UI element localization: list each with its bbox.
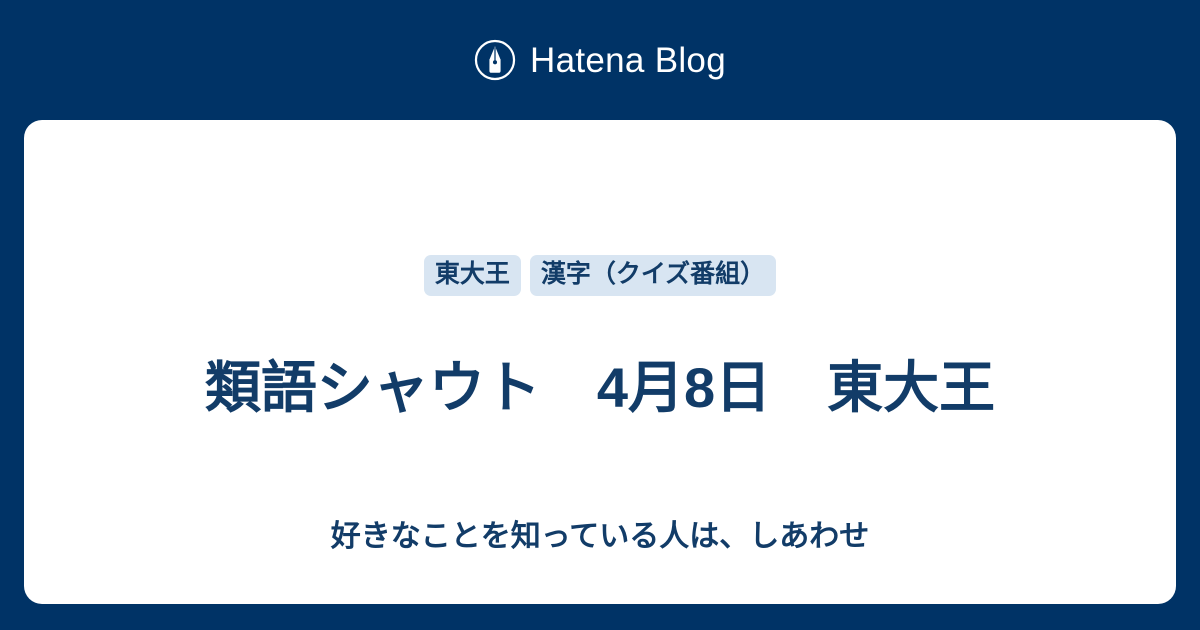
hatena-pen-nib-icon xyxy=(474,39,516,81)
entry-card: 東大王 漢字（クイズ番組） 類語シャウト 4月8日 東大王 好きなことを知ってい… xyxy=(24,120,1176,604)
service-name: Hatena Blog xyxy=(530,43,726,78)
brand-header: Hatena Blog xyxy=(0,0,1200,120)
entry-tag[interactable]: 漢字（クイズ番組） xyxy=(530,255,776,296)
tag-list: 東大王 漢字（クイズ番組） xyxy=(24,255,1176,296)
hatena-blog-og-card: Hatena Blog 東大王 漢字（クイズ番組） 類語シャウト 4月8日 東大… xyxy=(0,0,1200,630)
entry-tag[interactable]: 東大王 xyxy=(424,255,521,296)
blog-title: 好きなことを知っている人は、しあわせ xyxy=(24,517,1176,556)
entry-title: 類語シャウト 4月8日 東大王 xyxy=(24,354,1176,422)
